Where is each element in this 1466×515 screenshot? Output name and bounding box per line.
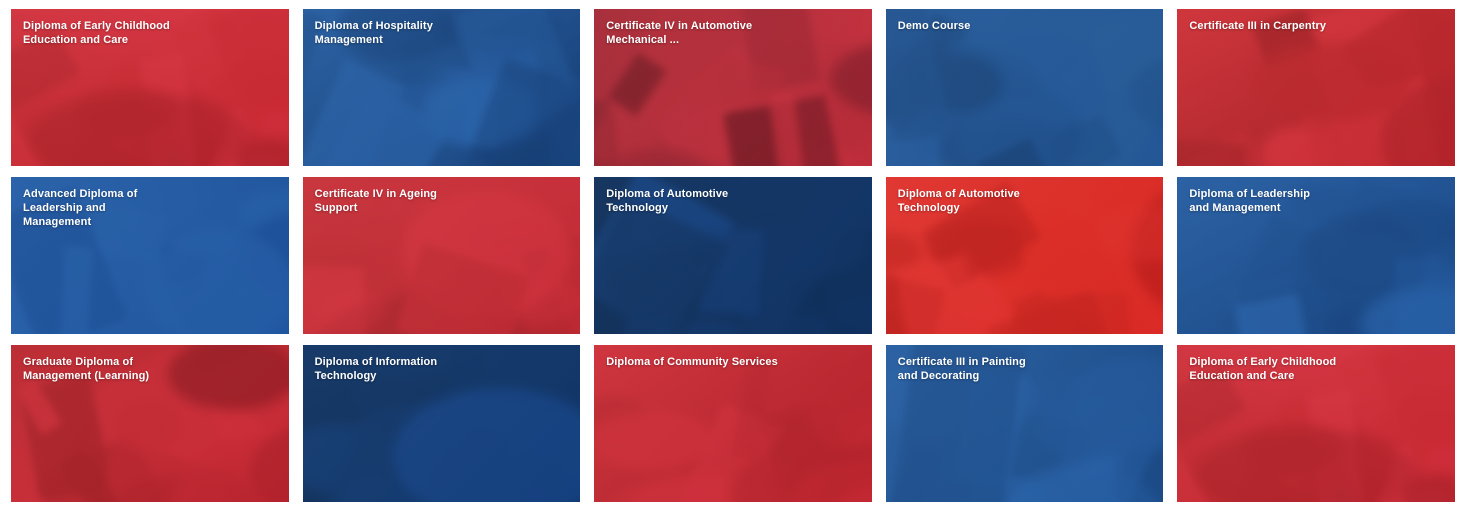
course-tile-diploma-leadership-and-management[interactable]: Diploma of Leadership and Management bbox=[1177, 177, 1455, 334]
course-tile-title: Diploma of Early Childhood Education and… bbox=[23, 19, 271, 47]
course-tile-grid: Diploma of Early Childhood Education and… bbox=[0, 0, 1466, 515]
course-tile-diploma-information-technology[interactable]: Diploma of Information Technology bbox=[303, 345, 581, 502]
course-tile-title: Diploma of Community Services bbox=[606, 355, 854, 369]
course-tile-title: Diploma of Automotive Technology bbox=[606, 187, 854, 215]
course-tile-title: Certificate III in Carpentry bbox=[1189, 19, 1437, 33]
course-tile-title: Diploma of Hospitality Management bbox=[315, 19, 563, 47]
course-tile-diploma-early-childhood-education-and-care-2[interactable]: Diploma of Early Childhood Education and… bbox=[1177, 345, 1455, 502]
course-tile-diploma-hospitality-management[interactable]: Diploma of Hospitality Management bbox=[303, 9, 581, 166]
course-tile-title: Diploma of Automotive Technology bbox=[898, 187, 1146, 215]
course-tile-advanced-diploma-leadership-and-management[interactable]: Advanced Diploma of Leadership and Manag… bbox=[11, 177, 289, 334]
course-tile-diploma-automotive-technology-red[interactable]: Diploma of Automotive Technology bbox=[886, 177, 1164, 334]
course-tile-certificate-iii-painting-and-decorating[interactable]: Certificate III in Painting and Decorati… bbox=[886, 345, 1164, 502]
course-tile-title: Certificate IV in Ageing Support bbox=[315, 187, 563, 215]
course-tile-certificate-iii-carpentry[interactable]: Certificate III in Carpentry bbox=[1177, 9, 1455, 166]
course-tile-diploma-automotive-technology-blue[interactable]: Diploma of Automotive Technology bbox=[594, 177, 872, 334]
course-tile-title: Diploma of Leadership and Management bbox=[1189, 187, 1437, 215]
course-tile-certificate-iv-automotive-mechanical[interactable]: Certificate IV in Automotive Mechanical … bbox=[594, 9, 872, 166]
course-tile-diploma-early-childhood-education-and-care[interactable]: Diploma of Early Childhood Education and… bbox=[11, 9, 289, 166]
course-tile-graduate-diploma-management-learning[interactable]: Graduate Diploma of Management (Learning… bbox=[11, 345, 289, 502]
course-tile-title: Demo Course bbox=[898, 19, 1146, 33]
course-tile-title: Advanced Diploma of Leadership and Manag… bbox=[23, 187, 271, 229]
course-tile-title: Graduate Diploma of Management (Learning… bbox=[23, 355, 271, 383]
course-tile-demo-course[interactable]: Demo Course bbox=[886, 9, 1164, 166]
course-tile-title: Certificate IV in Automotive Mechanical … bbox=[606, 19, 854, 47]
course-tile-certificate-iv-ageing-support[interactable]: Certificate IV in Ageing Support bbox=[303, 177, 581, 334]
course-tile-title: Diploma of Early Childhood Education and… bbox=[1189, 355, 1437, 383]
course-tile-diploma-community-services[interactable]: Diploma of Community Services bbox=[594, 345, 872, 502]
course-tile-title: Diploma of Information Technology bbox=[315, 355, 563, 383]
course-tile-title: Certificate III in Painting and Decorati… bbox=[898, 355, 1146, 383]
